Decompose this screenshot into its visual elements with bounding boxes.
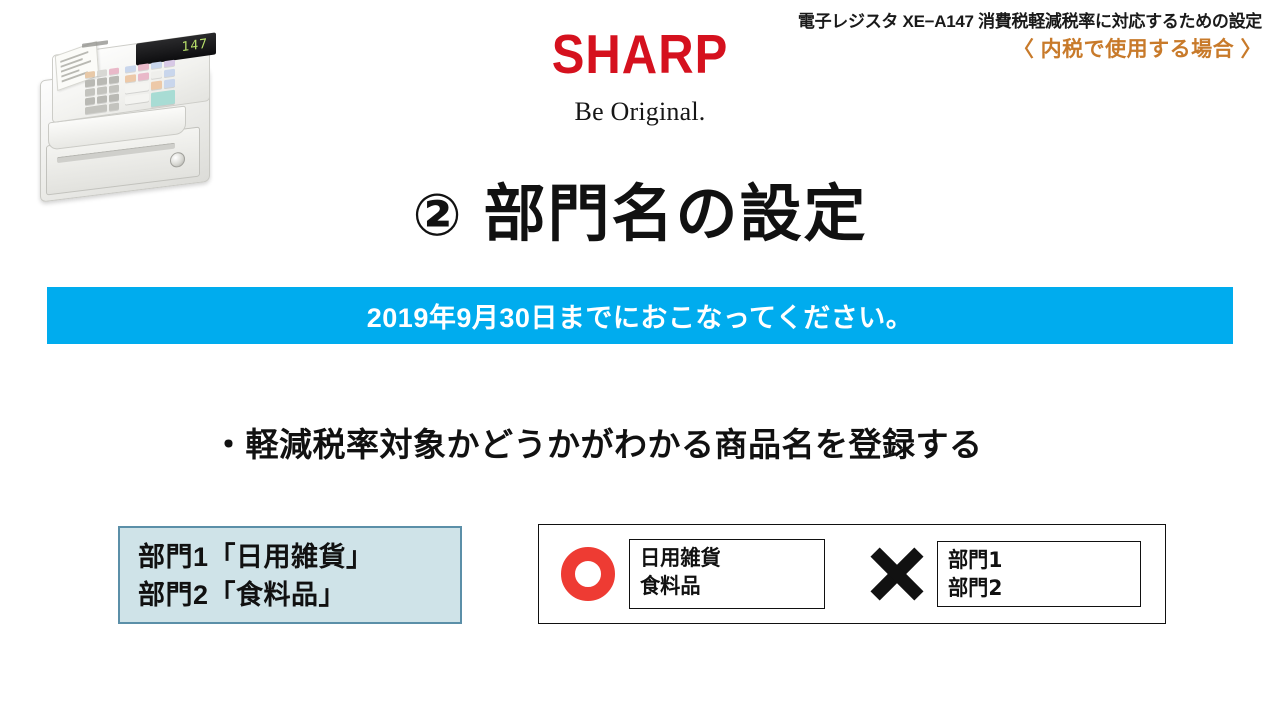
brand-tagline: Be Original. [552, 99, 729, 125]
cash-register-image: 147 [30, 18, 230, 208]
department-name-1: 部門1「日用雑貨」 [138, 538, 460, 576]
deadline-banner: 2019年9月30日までにおこなってください。 [47, 287, 1233, 344]
drawer-lock-icon [170, 151, 185, 168]
header-text-block: 電子レジスタ XE−A147 消費税軽減税率に対応するための設定 〈 内税で使用… [798, 12, 1262, 62]
bad-receipt-line-1: 部門1 [948, 547, 1123, 575]
sharp-wordmark: SHARP [552, 28, 729, 83]
page-title-text: 部門名の設定 [484, 180, 868, 249]
comparison-panel: 日用雑貨 食料品 部門1 部門2 [538, 524, 1166, 624]
bad-example: 部門1 部門2 [871, 541, 1141, 607]
product-model-line: 電子レジスタ XE−A147 消費税軽減税率に対応するための設定 [798, 12, 1262, 32]
bad-receipt-line-2: 部門2 [948, 575, 1123, 603]
department-name-2: 部門2「食料品」 [138, 576, 460, 614]
cross-mark-icon [871, 548, 923, 600]
page-title: ②部門名の設定 [0, 182, 1280, 247]
department-names-box: 部門1「日用雑貨」 部門2「食料品」 [118, 526, 462, 624]
deadline-banner-text: 2019年9月30日までにおこなってください。 [367, 296, 913, 335]
tax-mode-line: 〈 内税で使用する場合 〉 [798, 38, 1262, 62]
bad-receipt-sample: 部門1 部門2 [937, 541, 1141, 607]
circle-mark-icon [561, 547, 615, 601]
good-receipt-line-1: 日用雑貨 [640, 545, 807, 573]
good-example: 日用雑貨 食料品 [561, 539, 825, 609]
good-receipt-line-2: 食料品 [640, 573, 807, 601]
step-number: ② [412, 183, 463, 248]
instruction-bullet: ・軽減税率対象かどうかがわかる商品名を登録する [212, 418, 983, 466]
register-display-value: 147 [182, 37, 208, 56]
good-receipt-sample: 日用雑貨 食料品 [629, 539, 825, 609]
